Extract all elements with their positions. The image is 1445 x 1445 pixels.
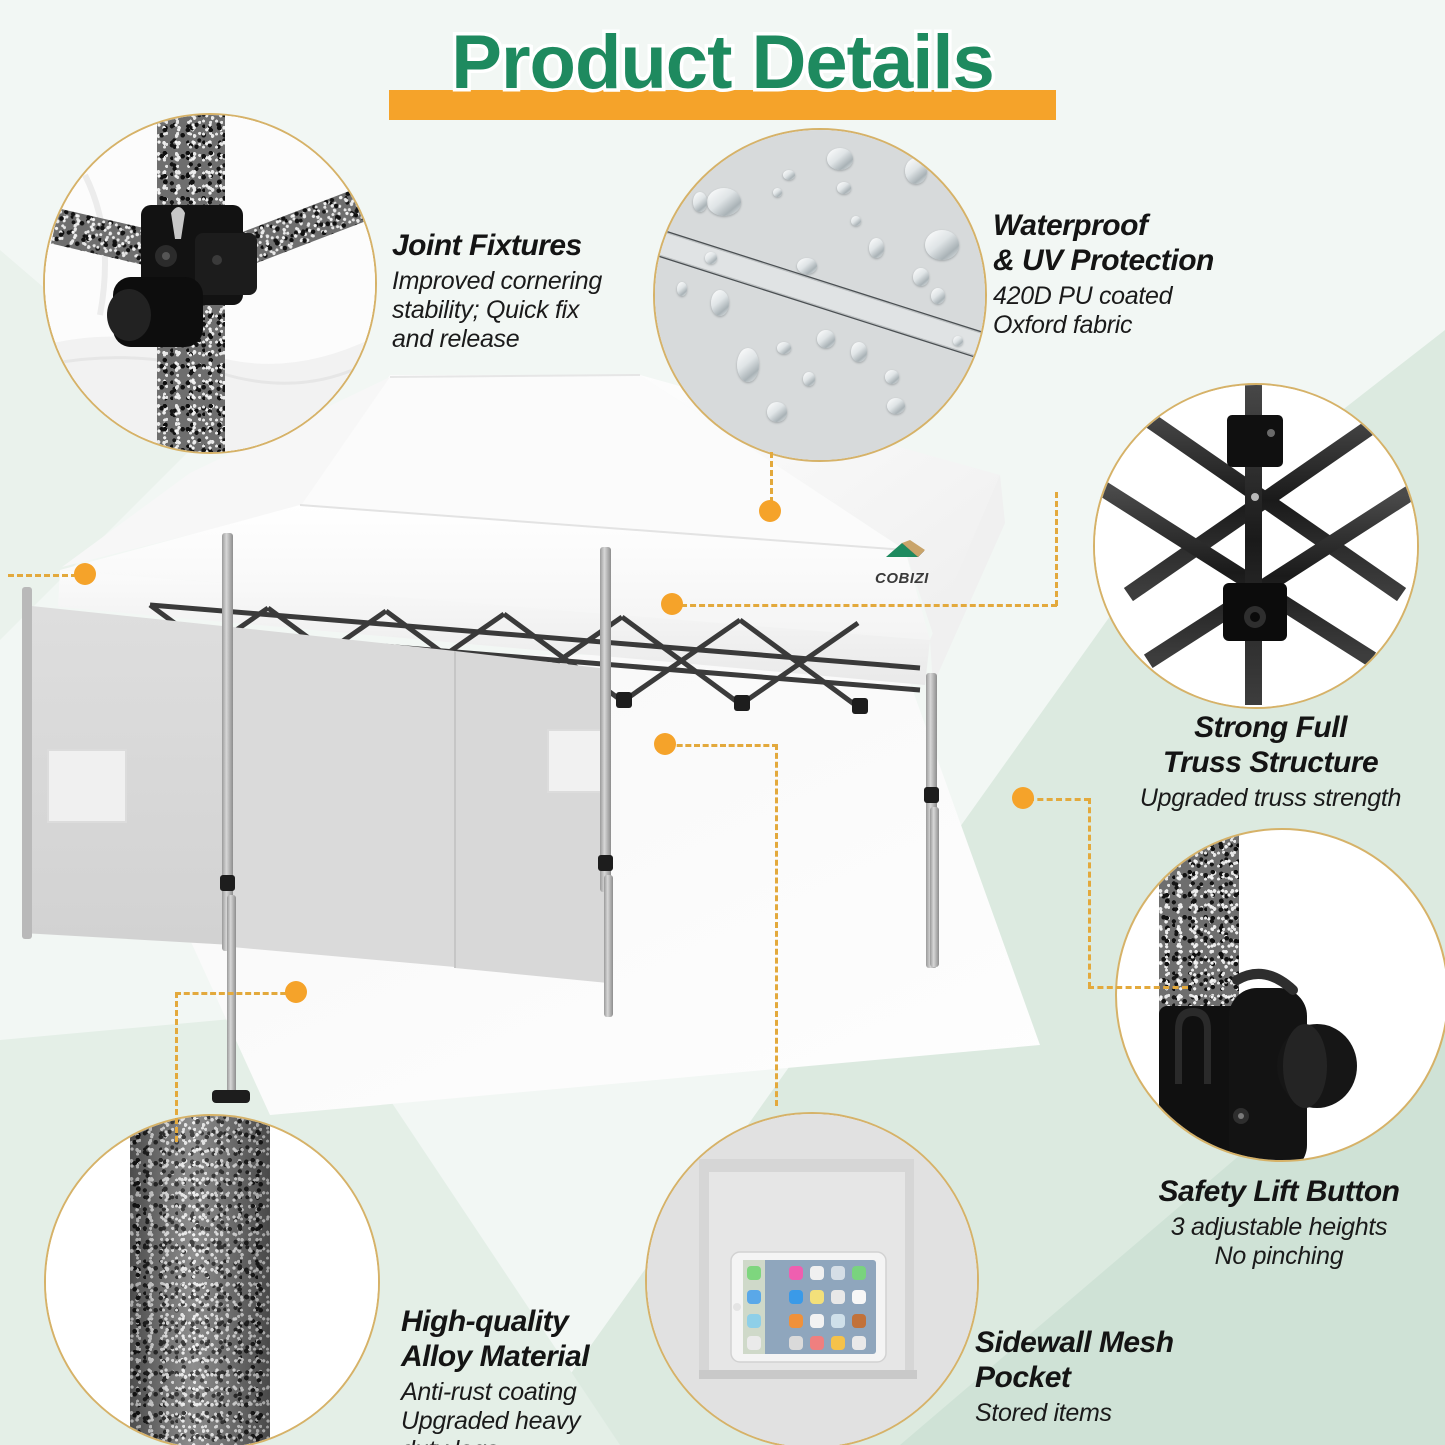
- feature-description-joint-fixtures: Improved corneringstability; Quick fixan…: [392, 267, 632, 354]
- callout-dot-alloy[interactable]: [285, 981, 307, 1003]
- alloy-leg-shading: [130, 1116, 270, 1445]
- feature-heading-truss-structure: Strong FullTruss Structure: [1098, 710, 1443, 780]
- feature-description-sidewall-mesh-pocket: Stored items: [975, 1399, 1245, 1428]
- callout-dot-safety[interactable]: [1012, 787, 1034, 809]
- callout-dot-pocket[interactable]: [654, 733, 676, 755]
- feature-heading-sidewall-mesh-pocket: Sidewall MeshPocket: [975, 1325, 1245, 1395]
- callout-dot-truss[interactable]: [661, 593, 683, 615]
- feature-heading-waterproof-uv: Waterproof& UV Protection: [993, 208, 1263, 278]
- connector-safety-a: [1028, 798, 1090, 801]
- connector-truss-a: [672, 604, 1057, 607]
- feature-heading-joint-fixtures: Joint Fixtures: [392, 228, 632, 263]
- tablet-in-pocket: [647, 1114, 977, 1445]
- feature-description-truss-structure: Upgraded truss strength: [1098, 784, 1443, 813]
- callout-dot-joint-fixtures[interactable]: [74, 563, 96, 585]
- feature-heading-safety-lift-button: Safety Lift Button: [1120, 1174, 1438, 1209]
- page-title-group: Product Details: [0, 8, 1445, 118]
- connector-pocket-b: [775, 744, 778, 1106]
- feature-image-safety-lift-button: [1155, 828, 1445, 1158]
- connector-safety-c: [1088, 986, 1188, 989]
- feature-text-alloy-material: High-qualityAlloy Material Anti-rust coa…: [401, 1304, 661, 1445]
- connector-alloy-b: [175, 992, 178, 1142]
- page-title: Product Details: [451, 8, 993, 118]
- brand-logo-text: COBIZI: [875, 570, 929, 587]
- feature-text-sidewall-mesh-pocket: Sidewall MeshPocket Stored items: [975, 1325, 1245, 1428]
- lift-button-part: [1117, 830, 1445, 1160]
- feature-heading-alloy-material: High-qualityAlloy Material: [401, 1304, 661, 1374]
- canopy-tent-svg: [0, 355, 1080, 1145]
- feature-description-waterproof-uv: 420D PU coatedOxford fabric: [993, 282, 1263, 340]
- connector-alloy-a: [175, 992, 295, 995]
- feature-text-safety-lift-button: Safety Lift Button 3 adjustable heightsN…: [1120, 1174, 1438, 1271]
- feature-text-waterproof-uv: Waterproof& UV Protection 420D PU coated…: [993, 208, 1263, 340]
- connector-truss-b: [1055, 492, 1058, 606]
- connector-pocket-a: [668, 744, 778, 747]
- callout-dot-waterproof[interactable]: [759, 500, 781, 522]
- feature-text-truss-structure: Strong FullTruss Structure Upgraded trus…: [1098, 710, 1443, 813]
- feature-description-safety-lift-button: 3 adjustable heightsNo pinching: [1120, 1213, 1438, 1271]
- feature-image-truss-structure: [1093, 383, 1419, 709]
- feature-image-sidewall-mesh-pocket: [645, 1112, 979, 1445]
- canopy-tent-illustration: COBIZI: [0, 355, 1080, 1145]
- feature-description-alloy-material: Anti-rust coatingUpgraded heavyduty legs: [401, 1378, 661, 1445]
- connector-safety-b: [1088, 798, 1091, 988]
- feature-image-alloy-material: [44, 1114, 380, 1445]
- feature-image-joint-fixtures: [43, 113, 377, 454]
- truss-frame: [1095, 385, 1417, 707]
- feature-image-waterproof-uv: [653, 128, 987, 462]
- product-details-infographic: Product Details: [0, 0, 1445, 1445]
- joint-fixture-part: [45, 115, 375, 452]
- feature-text-joint-fixtures: Joint Fixtures Improved corneringstabili…: [392, 228, 632, 354]
